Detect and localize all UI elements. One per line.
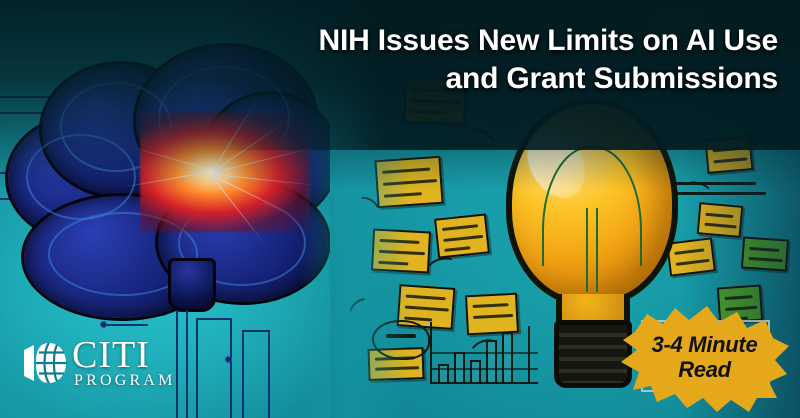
circuit-trace — [230, 318, 232, 418]
logo-subtitle: PROGRAM — [72, 372, 176, 390]
circuit-trace — [242, 330, 244, 418]
circuit-trace — [268, 330, 270, 418]
page-title: NIH Issues New Limits on AI Use and Gran… — [218, 22, 778, 99]
circuit-trace — [242, 330, 268, 332]
circuit-node — [225, 356, 232, 363]
logo-wordmark: CITI — [72, 336, 176, 374]
logo-text-block: CITI PROGRAM — [72, 336, 176, 390]
citi-program-logo[interactable]: CITI PROGRAM — [22, 336, 202, 398]
article-hero-banner: NIH Issues New Limits on AI Use and Gran… — [0, 0, 800, 418]
brain-stem — [168, 258, 216, 312]
page-title-line-1: NIH Issues New Limits on AI Use — [218, 22, 778, 60]
page-title-line-2: and Grant Submissions — [218, 60, 778, 98]
read-time-badge: 3-4 Minute Read — [617, 302, 792, 414]
sticky-note — [434, 213, 490, 258]
badge-line-1: 3-4 Minute — [652, 333, 758, 358]
badge-line-2: Read — [678, 358, 731, 383]
globe-grid-icon — [22, 340, 68, 386]
badge-label: 3-4 Minute Read — [617, 302, 792, 414]
circuit-trace — [196, 318, 230, 320]
bulb-filament-stem — [586, 208, 598, 292]
